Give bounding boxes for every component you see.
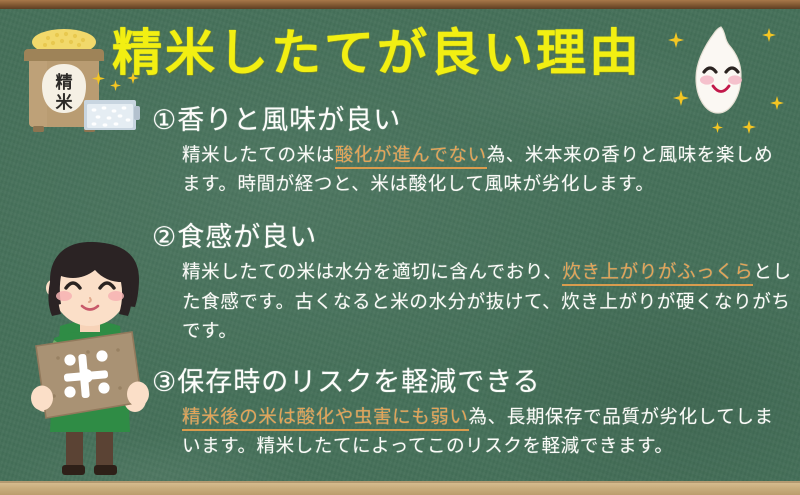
reason-2-body: 精米したての米は水分を適切に含んでおり、炊き上がりがふっくらとした食感です。古く… <box>152 258 792 346</box>
body-text-run: 精米したての米は <box>182 145 335 166</box>
svg-text:米: 米 <box>56 92 74 113</box>
body-text-run: 精米したての米は水分を適切に含んでおり、 <box>182 262 562 283</box>
rice-grain-mascot-icon <box>688 24 752 116</box>
page-title: 精米したてが良い理由 <box>112 28 642 78</box>
board-frame-top <box>0 0 800 9</box>
board-frame-bottom-ledge <box>0 481 800 495</box>
highlighted-phrase: 精米後の米は酸化や虫害にも弱い <box>182 407 469 431</box>
reason-section-1: ①香りと風味が良い 精米したての米は酸化が進んでない為、米本来の香りと風味を楽し… <box>152 104 792 199</box>
svg-text:精: 精 <box>56 72 73 93</box>
reason-1-heading: ①香りと風味が良い <box>152 104 792 138</box>
sparkle-star-icon <box>668 32 684 48</box>
reason-section-2: ②食感が良い 精米したての米は水分を適切に含んでおり、炊き上がりがふっくらとした… <box>152 221 792 346</box>
sparkle-star-icon <box>762 28 776 42</box>
highlighted-phrase: 酸化が進んでない <box>335 145 487 169</box>
sparkle-star-icon <box>92 72 105 85</box>
reason-3-heading: ③保存時のリスクを軽減できる <box>152 366 792 400</box>
highlighted-phrase: 炊き上がりがふっくら <box>562 262 753 286</box>
woman-holding-rice-bag-icon <box>24 230 156 482</box>
reasons-list: ①香りと風味が良い 精米したての米は酸化が進んでない為、米本来の香りと風味を楽し… <box>152 104 792 466</box>
rice-tray-icon <box>82 92 142 137</box>
reason-section-3: ③保存時のリスクを軽減できる 精米後の米は酸化や虫害にも弱い為、長期保存で品質が… <box>152 366 792 461</box>
reason-2-heading: ②食感が良い <box>152 221 792 255</box>
reason-3-body: 精米後の米は酸化や虫害にも弱い為、長期保存で品質が劣化してしまいます。精米したて… <box>152 403 792 461</box>
chalkboard: 精 米 <box>0 0 800 495</box>
reason-1-body: 精米したての米は酸化が進んでない為、米本来の香りと風味を楽しめます。時間が経つと… <box>152 141 792 199</box>
